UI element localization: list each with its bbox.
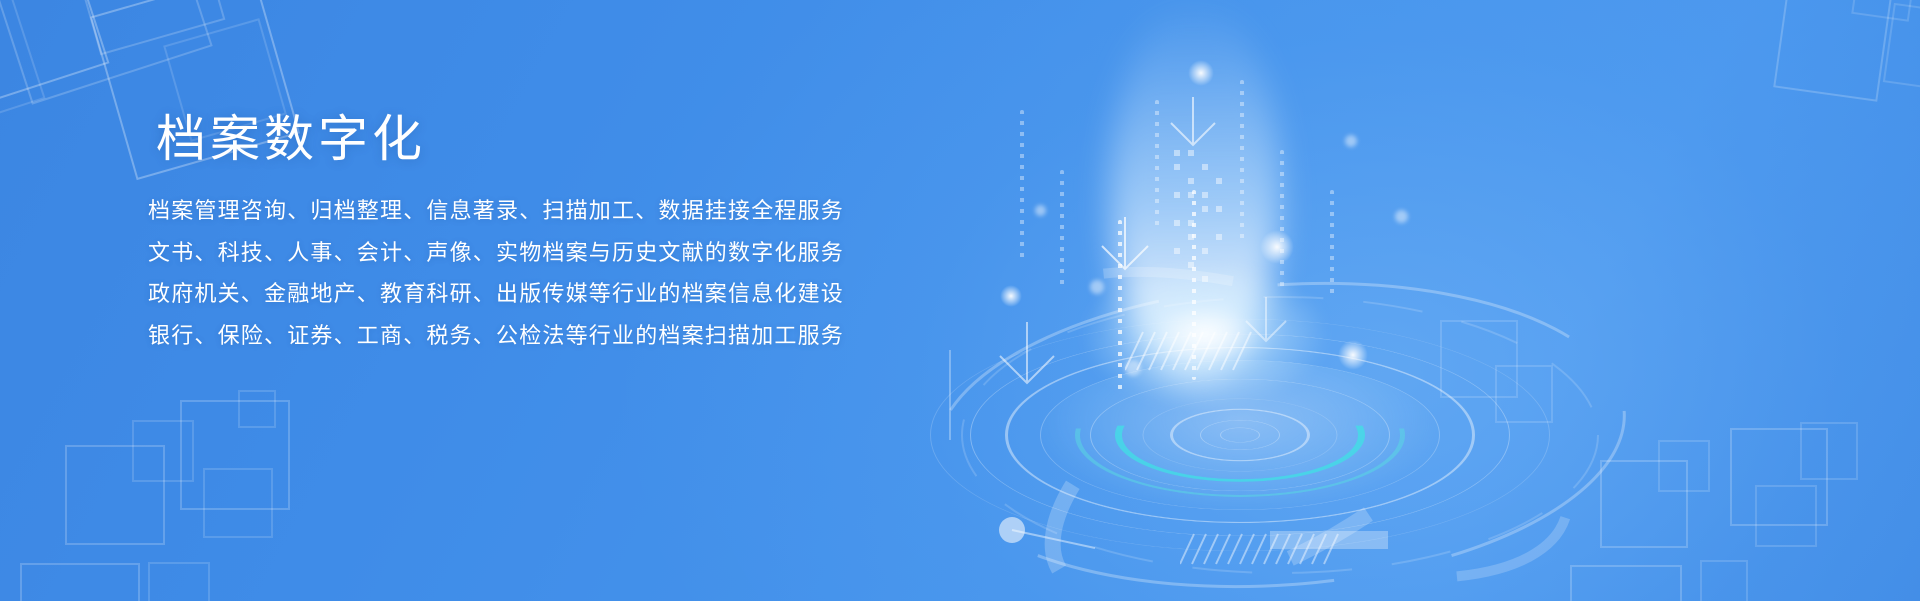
particle [1035, 205, 1046, 216]
decor-square [148, 562, 210, 601]
data-stream [1280, 150, 1284, 290]
decor-square [1755, 485, 1817, 547]
binary-ticks [1170, 150, 1230, 300]
data-stream [1118, 220, 1122, 390]
hud-ring-cyan-outer [1075, 373, 1405, 497]
data-stream [1060, 170, 1064, 290]
particle [1188, 60, 1214, 86]
light-beam [1110, 0, 1280, 380]
decor-square [1800, 422, 1858, 480]
hud-ring-core [1220, 428, 1260, 443]
hud-hatch-detail [1125, 330, 1255, 376]
decor-square [1570, 565, 1682, 601]
hud-ring [1090, 379, 1390, 491]
decor-squares-top-right [1760, 0, 1920, 160]
description-line: 档案管理咨询、归档整理、信息著录、扫描加工、数据挂接全程服务 [148, 197, 844, 225]
decor-square [238, 390, 276, 428]
decor-squares-bottom-right [1600, 440, 1920, 601]
description-line: 文书、科技、人事、会计、声像、实物档案与历史文献的数字化服务 [148, 239, 844, 267]
hud-hatch-detail [1180, 530, 1350, 568]
data-stream [1330, 190, 1334, 300]
hud-ring-cyan [1115, 388, 1365, 482]
particle [1395, 210, 1408, 223]
hud-ring-fill [1040, 360, 1440, 510]
data-stream [1155, 100, 1159, 230]
data-stream [1192, 190, 1196, 380]
hud-ring [970, 334, 1510, 536]
decor-square [1658, 440, 1710, 492]
description-list: 档案管理咨询、归档整理、信息著录、扫描加工、数据挂接全程服务 文书、科技、人事、… [148, 197, 844, 349]
down-arrow-icon [1095, 215, 1155, 275]
hud-bracket-detail [1270, 525, 1390, 555]
decor-square [20, 563, 140, 601]
page-title: 档案数字化 [156, 112, 844, 167]
decor-square [203, 468, 273, 538]
description-line: 政府机关、金融地产、教育科研、出版传媒等行业的档案信息化建设 [148, 280, 844, 308]
particle [1000, 285, 1022, 307]
hud-ring-accent [1005, 347, 1475, 523]
description-line: 银行、保险、证券、工商、税务、公检法等行业的档案扫描加工服务 [148, 322, 844, 350]
particle [1338, 340, 1368, 370]
particle [1090, 280, 1104, 294]
down-arrow-icon [1240, 295, 1292, 347]
decor-squares-bottom-left [40, 420, 380, 601]
decor-square [1700, 560, 1748, 601]
particle [1345, 135, 1357, 147]
hud-ring-inner [1170, 409, 1310, 461]
particle [1125, 360, 1141, 376]
decor-square [1495, 365, 1553, 423]
down-arrow-icon [1165, 95, 1221, 151]
decor-squares-mid-right [1440, 320, 1600, 480]
data-stream [1240, 80, 1244, 240]
particle [1260, 230, 1294, 264]
core-flare [1080, 260, 1330, 410]
banner-content: 档案数字化 档案管理咨询、归档整理、信息著录、扫描加工、数据挂接全程服务 文书、… [148, 112, 844, 349]
hero-banner: 档案数字化 档案管理咨询、归档整理、信息著录、扫描加工、数据挂接全程服务 文书、… [0, 0, 1920, 601]
data-stream [1020, 110, 1024, 260]
down-arrow-icon [992, 320, 1062, 390]
hud-ring [1143, 398, 1338, 471]
hud-ring-core [1200, 420, 1280, 450]
